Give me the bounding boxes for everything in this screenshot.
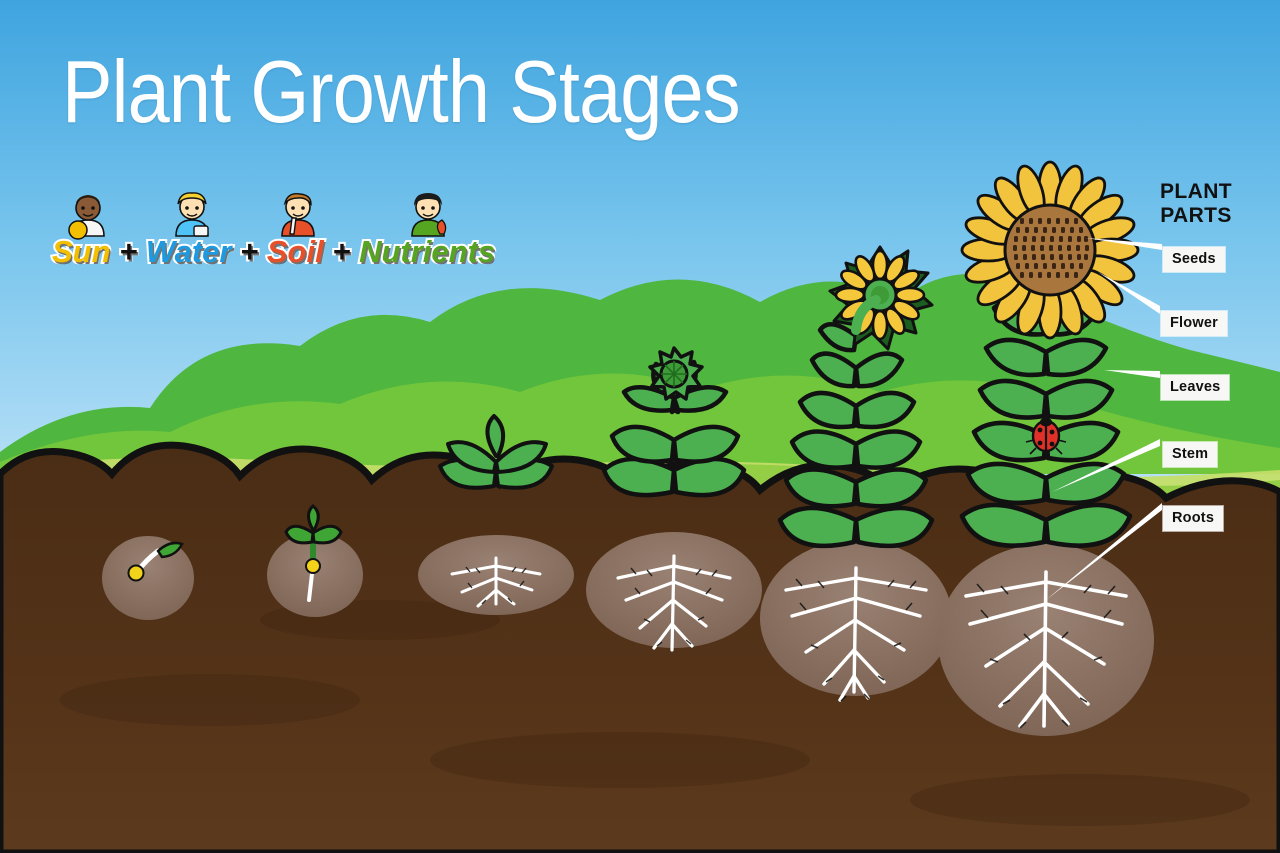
formula-term-nutrients: Nutrients bbox=[359, 234, 495, 269]
stage-1-seed bbox=[102, 536, 194, 620]
stage-4-vegetative bbox=[586, 348, 762, 650]
stage-6-mature-flower bbox=[938, 162, 1154, 736]
child-with-plant-icon bbox=[400, 190, 456, 240]
child-with-watering-can-icon bbox=[164, 190, 220, 240]
cotyledon-leaf-top bbox=[309, 506, 319, 530]
label-flower: Flower bbox=[1161, 311, 1227, 336]
legend-heading-line1: PLANT bbox=[1136, 180, 1256, 204]
child-with-trowel-icon bbox=[270, 190, 326, 240]
label-seeds: Seeds bbox=[1163, 247, 1225, 272]
page-title: Plant Growth Stages bbox=[62, 48, 740, 136]
growth-requirements-formula: Sun + Water + Soil + Nutrients bbox=[52, 190, 495, 270]
leaves bbox=[440, 416, 552, 488]
legend-heading: PLANT PARTS bbox=[1136, 180, 1256, 227]
formula-term-soil: Soil bbox=[267, 234, 324, 269]
legend-heading-line2: PARTS bbox=[1136, 204, 1256, 228]
label-leaves: Leaves bbox=[1161, 375, 1229, 400]
label-stem: Stem bbox=[1163, 442, 1217, 467]
stage-5-budding-bloom bbox=[760, 247, 952, 701]
formula-text: Sun + Water + Soil + Nutrients bbox=[52, 234, 495, 270]
formula-child-icons bbox=[52, 190, 495, 238]
child-with-sun-icon bbox=[60, 190, 116, 240]
sunflower-head bbox=[962, 162, 1138, 338]
formula-term-water: Water bbox=[146, 234, 232, 269]
seed bbox=[306, 559, 320, 573]
stage-3-seedling bbox=[418, 416, 574, 615]
formula-operator-1: + bbox=[119, 234, 137, 269]
seed bbox=[129, 566, 144, 581]
formula-operator-2: + bbox=[240, 234, 258, 269]
leader-leaves bbox=[1104, 370, 1160, 378]
stage-2-germination bbox=[267, 506, 363, 617]
formula-term-sun: Sun bbox=[52, 234, 111, 269]
label-roots: Roots bbox=[1163, 506, 1223, 531]
plant-growth-poster: Plant Growth Stages bbox=[0, 0, 1280, 853]
formula-operator-3: + bbox=[332, 234, 350, 269]
